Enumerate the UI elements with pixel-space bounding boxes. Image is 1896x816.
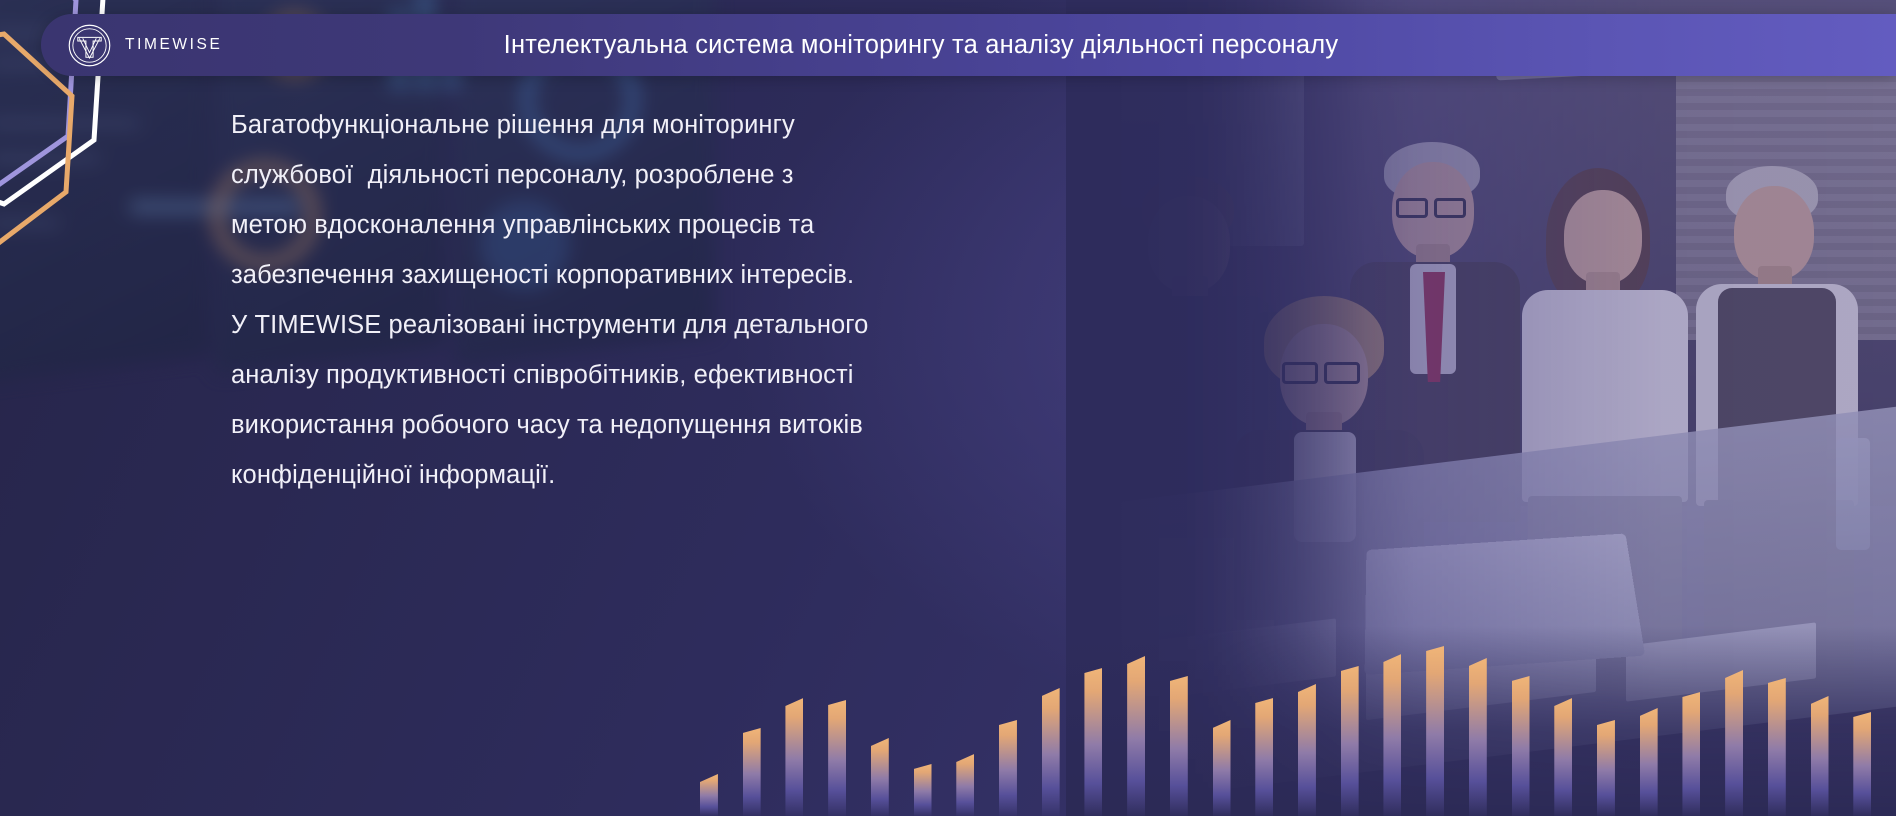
- chart-bar: [1554, 698, 1572, 816]
- chart-bar: [1853, 712, 1871, 816]
- chart-bar: [1170, 676, 1188, 816]
- chart-bar: [999, 720, 1017, 816]
- timewise-logo-icon: [67, 23, 112, 68]
- chart-bar: [785, 698, 803, 816]
- chart-bar: [956, 754, 974, 816]
- chart-bar: [700, 774, 718, 816]
- chart-bar: [1341, 666, 1359, 816]
- chart-bar: [1255, 698, 1273, 816]
- chart-bar: [914, 764, 932, 816]
- chart-bar: [828, 700, 846, 816]
- description-paragraph: Багатофункціональне рішення для монітори…: [231, 100, 1091, 500]
- chart-bar: [1213, 720, 1231, 816]
- brand-logo[interactable]: TIMEWISE: [41, 23, 276, 68]
- chart-bar: [871, 738, 889, 816]
- chart-bar: [1127, 656, 1145, 816]
- chart-bar: [1682, 692, 1700, 816]
- chart-bar: [1811, 696, 1829, 816]
- chart-bar: [1084, 668, 1102, 816]
- chart-bar: [1383, 654, 1401, 816]
- chart-bar: [1512, 676, 1530, 816]
- chart-bar: [1298, 684, 1316, 816]
- chart-bar: [1469, 658, 1487, 816]
- decorative-bar-chart: [700, 516, 1896, 816]
- chart-bar: [1597, 720, 1615, 816]
- header-bar: TIMEWISE Інтелектуальна система монітори…: [41, 14, 1896, 76]
- chart-bar: [1042, 688, 1060, 816]
- chart-bar: [1768, 678, 1786, 816]
- page-title: Інтелектуальна система моніторингу та ан…: [276, 31, 1896, 60]
- chart-bar: [1640, 708, 1658, 816]
- chart-bar: [1426, 646, 1444, 816]
- chart-bar: [743, 728, 761, 816]
- brand-name: TIMEWISE: [125, 36, 222, 54]
- hero-banner: TIMEWISE Інтелектуальна система монітори…: [0, 0, 1896, 816]
- chart-bar: [1725, 670, 1743, 816]
